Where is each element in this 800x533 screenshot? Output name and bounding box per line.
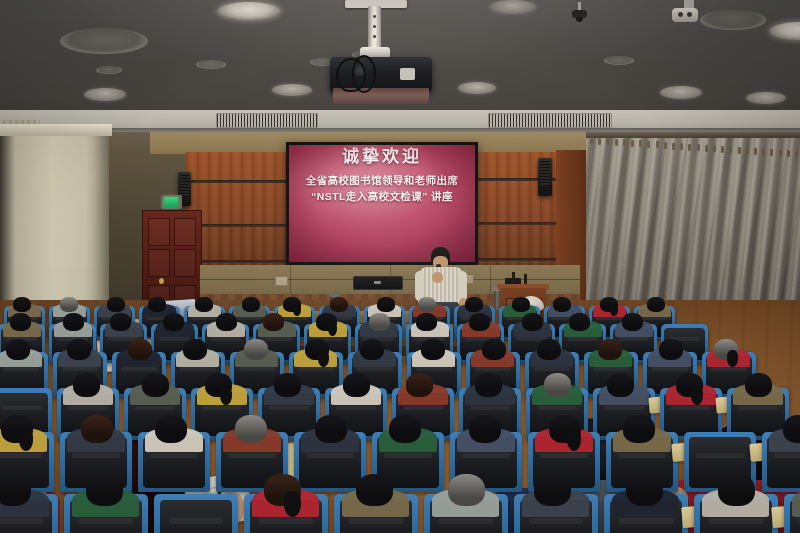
audience-member (0, 494, 58, 533)
curtain-hook (795, 151, 798, 158)
audience-seat[interactable] (64, 494, 148, 533)
presenter-hand (432, 272, 443, 283)
attendee-head (416, 313, 437, 331)
audience-seat[interactable] (762, 432, 800, 492)
wall-socket (275, 276, 288, 286)
attendee-ponytail (284, 491, 301, 517)
attendee-head (0, 474, 31, 506)
lecture-hall-photo: 诚挚欢迎 全省高校图书馆领导和老师出席 “NSTL走入高校文检课” 讲座 (0, 0, 800, 533)
attendee-head (86, 474, 123, 506)
ceiling-downlight (746, 92, 786, 104)
attendee-head (469, 415, 501, 443)
curtain-hook (631, 140, 634, 147)
curtain-hook (697, 144, 700, 151)
curtain-hook (647, 141, 650, 148)
attendee-head (155, 415, 187, 443)
ceiling-downlight (60, 28, 148, 54)
attendee-head (745, 373, 772, 397)
attendee-head (67, 339, 91, 360)
audience-seat[interactable] (154, 494, 238, 533)
attendee-head (448, 474, 485, 506)
ceiling-downlight (660, 86, 702, 99)
curtain-hook (672, 143, 675, 150)
ceiling-downlight (196, 60, 226, 69)
audience-seat[interactable] (244, 494, 328, 533)
attendee-head (512, 297, 530, 312)
seat-back-band (1, 406, 42, 410)
curtain-hook (738, 147, 741, 154)
attendee-head (110, 313, 131, 331)
attendee-head (607, 373, 634, 397)
curtain-rod (586, 132, 800, 138)
attendee-head (537, 339, 561, 360)
ceiling-downlight (84, 88, 126, 101)
attendee-ponytail (567, 429, 581, 451)
attendee-ponytail (19, 429, 33, 451)
curtain-hook (688, 144, 691, 151)
curtain-hook (705, 145, 708, 152)
curtain-hook (729, 146, 732, 153)
attendee-head (482, 339, 506, 360)
audience-seat[interactable] (138, 432, 210, 492)
attendee-ponytail (318, 350, 329, 367)
attendee-shoulders (792, 489, 800, 517)
ceiling-camera-lens (678, 12, 683, 17)
attendee-head (469, 313, 490, 331)
audience-member (694, 494, 778, 533)
ceiling-downlight (458, 82, 496, 94)
attendee-head (369, 313, 390, 331)
seat-back (160, 500, 232, 533)
attendee-head (406, 373, 433, 397)
audience-seat[interactable] (334, 494, 418, 533)
curtain-hook (721, 146, 724, 153)
audience-seat[interactable] (424, 494, 508, 533)
attendee-head (421, 339, 445, 360)
curtain-hook (656, 141, 659, 148)
ceiling-downlight (700, 10, 766, 30)
attendee-ponytail (727, 350, 738, 367)
attendee-head (718, 474, 755, 506)
audience-member (244, 494, 328, 533)
curtain-hook (680, 143, 683, 150)
attendee-head (216, 313, 237, 331)
attendee-head (544, 373, 571, 397)
attendee-head (356, 474, 393, 506)
audience-member (762, 432, 800, 492)
audience-member (138, 432, 210, 492)
presenter-arm-right (458, 271, 467, 301)
ceiling-downlight (604, 56, 634, 65)
audience-seat[interactable] (0, 494, 58, 533)
attendee-head (659, 339, 683, 360)
projector-label-panel (400, 68, 415, 80)
attendee-head (63, 313, 84, 331)
audience-member (784, 494, 800, 533)
ceiling-downlight (96, 66, 122, 74)
attendee-head (343, 373, 370, 397)
projector-mount-pole (368, 6, 381, 50)
attendee-head (242, 297, 260, 312)
ceiling-sensor-base (576, 17, 583, 22)
attendee-head (73, 373, 100, 397)
exit-sign-icon (164, 197, 178, 207)
curtain-hook (615, 139, 618, 146)
attendee-head (6, 339, 30, 360)
attendee-head (13, 297, 31, 312)
wall-speaker-right (538, 158, 552, 196)
attendee-head (475, 373, 502, 397)
attendee-head (465, 297, 483, 312)
attendee-head (60, 297, 78, 312)
attendee-head (647, 297, 665, 312)
attendee-head (330, 297, 348, 312)
curtain-hook (590, 137, 593, 144)
av-panel-display (374, 281, 381, 284)
curtain-hook (754, 148, 757, 155)
attendee-head (244, 339, 268, 360)
curtain-hook (664, 142, 667, 149)
seat-back-band (696, 453, 743, 458)
attendee-ponytail (610, 304, 618, 316)
attendee-head (128, 339, 152, 360)
attendee-head (274, 373, 301, 397)
curtain-hook (713, 145, 716, 152)
attendee-head (163, 313, 184, 331)
attendee-ponytail (293, 304, 301, 316)
audience-seat[interactable] (294, 432, 366, 492)
audience-seat[interactable] (604, 494, 688, 533)
attendee-head (389, 415, 421, 443)
audience-seat[interactable] (514, 494, 598, 533)
curtain-hook (779, 150, 782, 157)
curtain-hook (762, 149, 765, 156)
attendee-head (569, 313, 590, 331)
attendee-ponytail (691, 386, 703, 405)
curtain-hook (598, 138, 601, 145)
attendee-head (623, 415, 655, 443)
audience-seat[interactable] (694, 494, 778, 533)
air-vent-right (488, 113, 612, 128)
attendee-head (377, 297, 395, 312)
attendee-head (107, 297, 125, 312)
ceiling-camera-lens-2 (687, 12, 692, 17)
screen-vignette (289, 145, 475, 262)
attendee-head (360, 339, 384, 360)
audience-member (334, 494, 418, 533)
attendee-head (315, 415, 347, 443)
curtain-hook (787, 150, 790, 157)
audience-seat[interactable] (784, 494, 800, 533)
attendee-head (783, 415, 800, 443)
attendee-ponytail (220, 386, 232, 405)
door-knob[interactable] (159, 278, 164, 284)
curtain-hook (623, 139, 626, 146)
attendee-head (626, 474, 663, 506)
air-vent-left (216, 113, 318, 128)
audience-member (514, 494, 598, 533)
attendee-head (418, 297, 436, 312)
projector-cable-2 (352, 55, 376, 93)
attendee-head (263, 313, 284, 331)
curtain-hook (606, 138, 609, 145)
attendee-head (148, 297, 166, 312)
ceiling-downlight (218, 2, 280, 20)
seat-frame (154, 494, 238, 533)
attendee-ponytail (328, 322, 337, 336)
curtain-hook (770, 149, 773, 156)
attendee-head (622, 313, 643, 331)
audience-member (294, 432, 366, 492)
attendee-head (142, 373, 169, 397)
ceiling-downlight (272, 84, 312, 96)
audience-member (64, 494, 148, 533)
attendee-head (598, 339, 622, 360)
curtain-hook (746, 147, 749, 154)
pillar-cornice (0, 124, 112, 136)
curtain-hook (639, 140, 642, 147)
seat-back-band (169, 518, 224, 524)
audience-member (604, 494, 688, 533)
ceiling-camera-icon (672, 8, 698, 22)
attendee-head (183, 339, 207, 360)
attendee-head (81, 415, 113, 443)
attendee-head (10, 313, 31, 331)
attendee-head (522, 313, 543, 331)
ceiling-downlight (490, 0, 536, 14)
audience-member (424, 494, 508, 533)
attendee-head (235, 415, 267, 443)
attendee-head (553, 297, 571, 312)
attendee-head (195, 297, 213, 312)
attendee-head (534, 474, 571, 506)
